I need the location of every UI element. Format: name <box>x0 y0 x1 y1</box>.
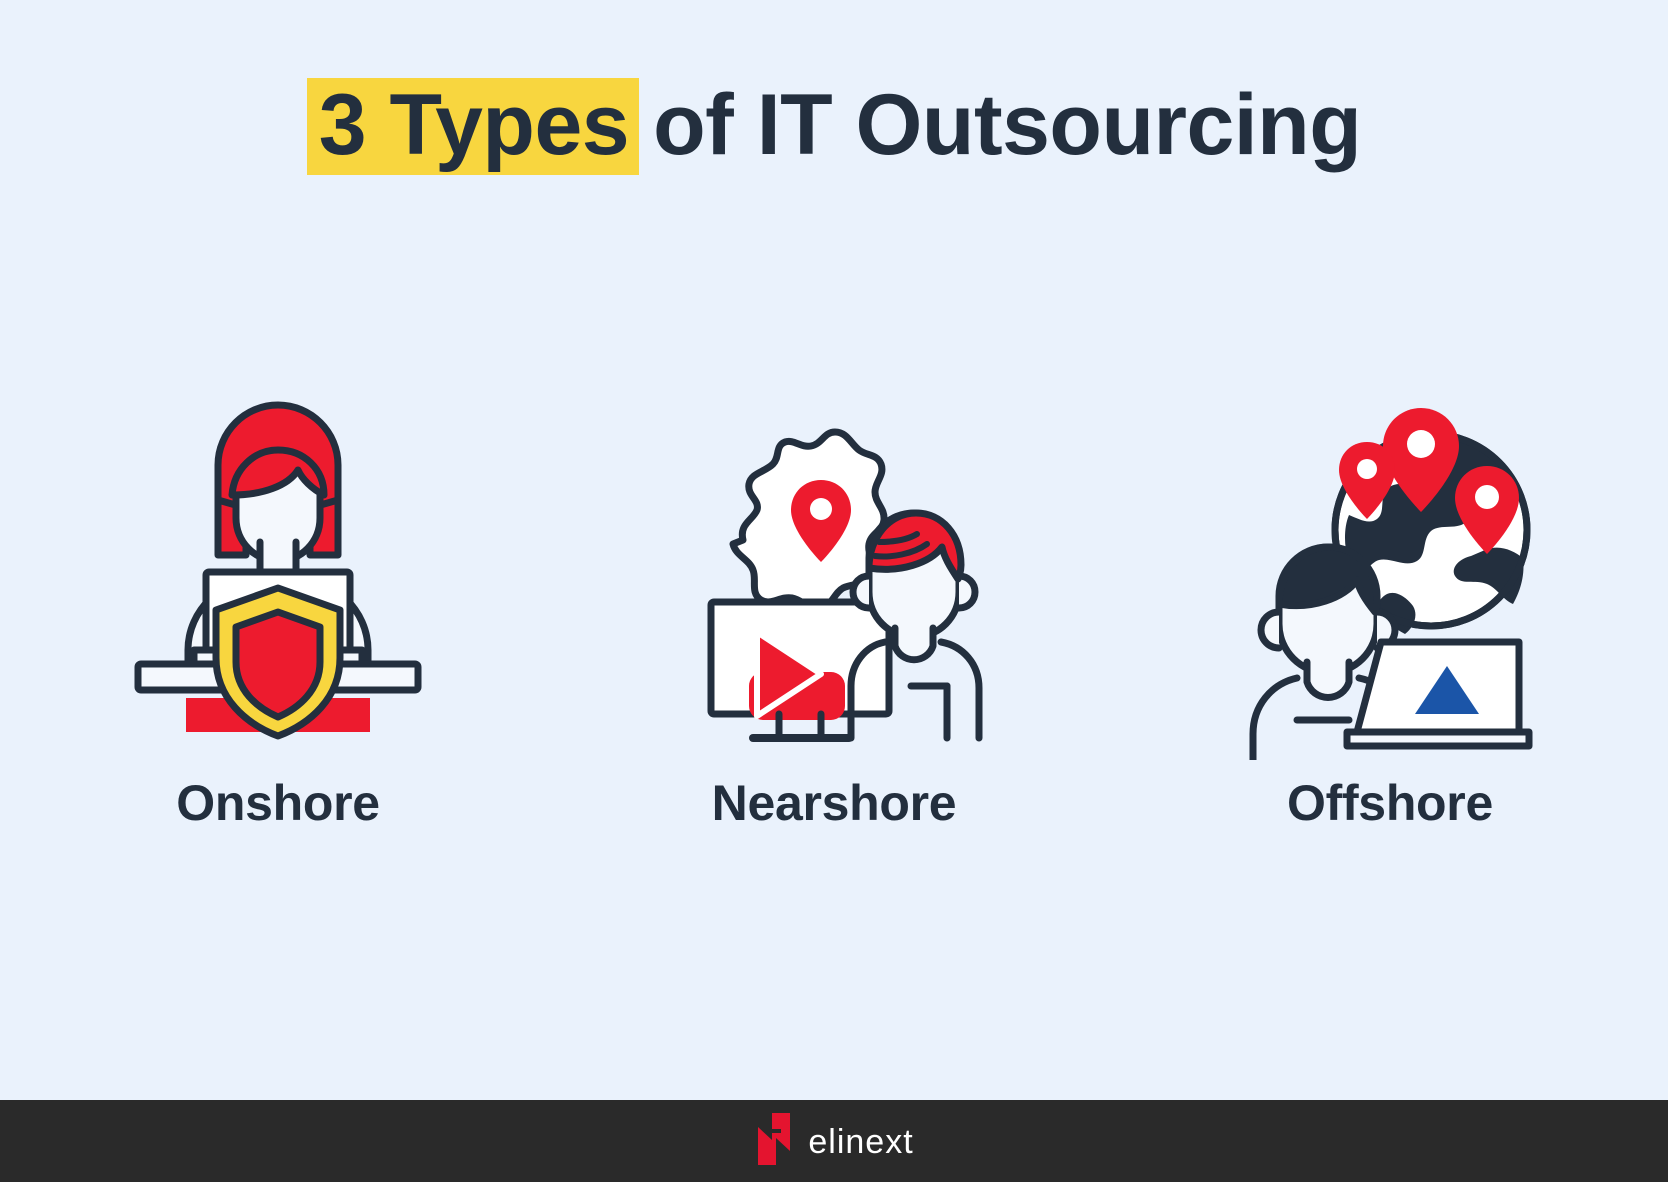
card-nearshore[interactable]: Nearshore <box>604 360 1064 832</box>
infographic-canvas: 3 Typesof IT Outsourcing <box>0 0 1668 1182</box>
card-offshore[interactable]: Offshore <box>1160 360 1620 832</box>
card-label-nearshore: Nearshore <box>712 774 957 832</box>
title-rest: of IT Outsourcing <box>639 80 1361 170</box>
elinext-logo-text: elinext <box>808 1123 913 1162</box>
woman-at-desk-with-shield-icon <box>108 360 448 760</box>
footer-bar: elinext <box>0 1100 1668 1182</box>
elinext-n-mark-icon <box>754 1113 794 1170</box>
page-title: 3 Typesof IT Outsourcing <box>0 78 1668 175</box>
card-label-onshore: Onshore <box>176 774 380 832</box>
elinext-logo[interactable]: elinext <box>754 1113 913 1170</box>
map-pin-monitor-person-icon <box>664 360 1004 760</box>
title-highlight: 3 Types <box>307 78 639 175</box>
globe-pins-laptop-person-icon <box>1220 360 1560 760</box>
outsourcing-type-list: Onshore <box>0 360 1668 832</box>
card-onshore[interactable]: Onshore <box>48 360 508 832</box>
card-label-offshore: Offshore <box>1287 774 1493 832</box>
